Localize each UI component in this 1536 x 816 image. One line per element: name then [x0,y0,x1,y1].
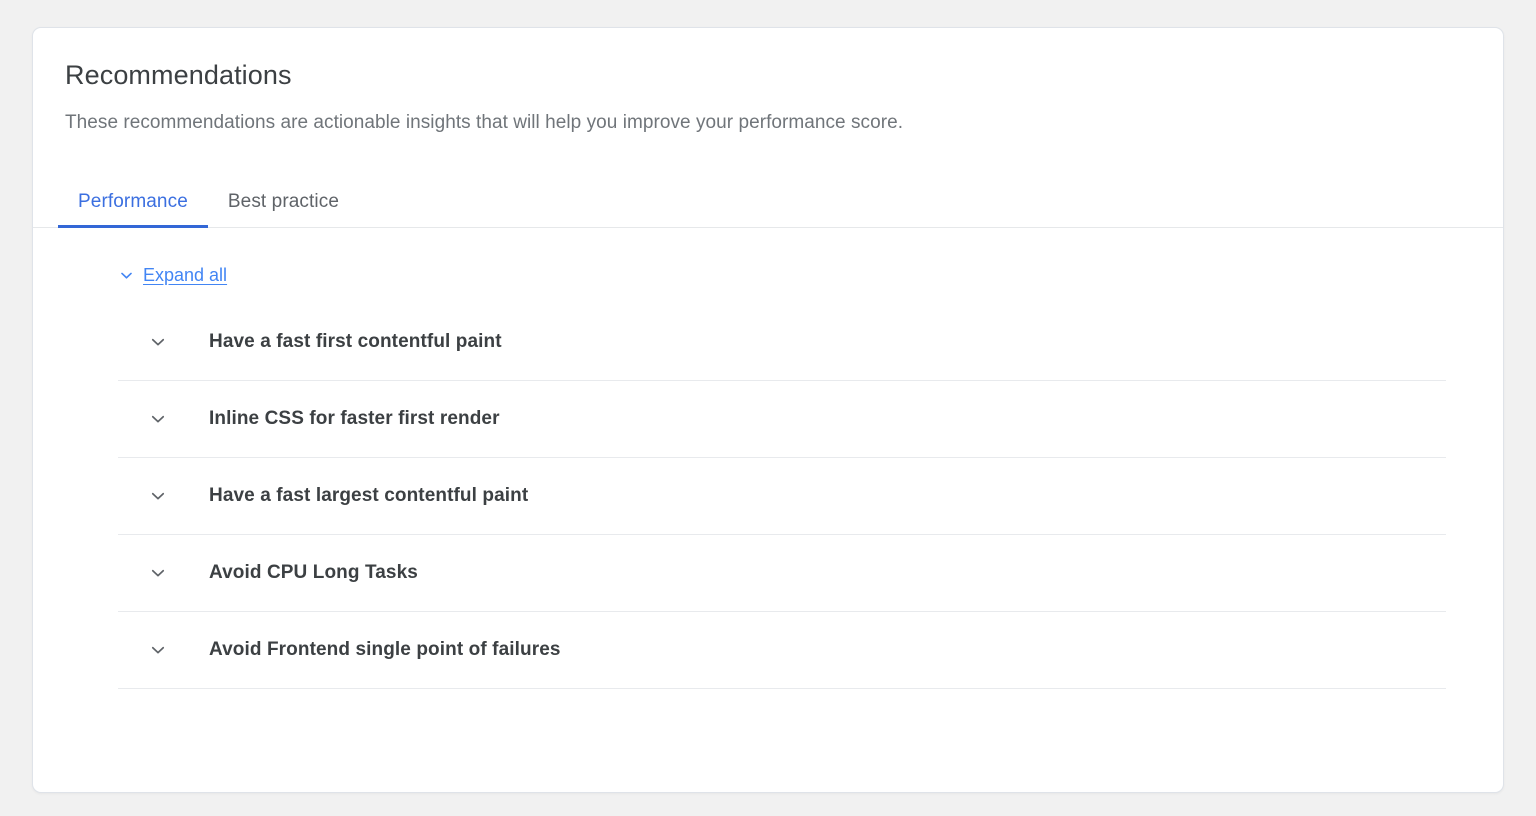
chevron-down-icon[interactable] [149,641,167,659]
recommendation-label: Inline CSS for faster first render [209,407,500,431]
recommendation-label: Avoid CPU Long Tasks [209,561,418,585]
recommendation-label: Have a fast first contentful paint [209,330,502,354]
recommendation-label: Avoid Frontend single point of failures [209,638,561,662]
card-header: Recommendations These recommendations ar… [33,28,1503,136]
recommendation-row-1[interactable]: Have a fast first contentful paint [118,304,1446,381]
recommendation-label: Have a fast largest contentful paint [209,484,528,508]
expand-all-row[interactable]: Expand all [33,228,1503,286]
recommendation-row-2[interactable]: Inline CSS for faster first render [118,381,1446,458]
recommendation-row-5[interactable]: Avoid Frontend single point of failures [118,612,1446,689]
recommendation-row-4[interactable]: Avoid CPU Long Tasks [118,535,1446,612]
recommendation-list: Have a fast first contentful paint Inlin… [33,304,1503,689]
chevron-down-icon[interactable] [119,268,134,283]
chevron-down-icon[interactable] [149,564,167,582]
expand-all-link[interactable]: Expand all [143,264,227,286]
chevron-down-icon[interactable] [149,487,167,505]
card-body: Expand all Have a fast first contentful … [33,228,1503,689]
tab-bar: Performance Best practice [33,172,1503,228]
chevron-down-icon[interactable] [149,333,167,351]
chevron-down-icon[interactable] [149,410,167,428]
card-subtitle: These recommendations are actionable ins… [65,110,1471,136]
recommendations-card: Recommendations These recommendations ar… [32,27,1504,793]
tab-performance[interactable]: Performance [58,190,208,228]
page-root: Recommendations These recommendations ar… [0,0,1536,816]
page-title: Recommendations [65,58,1471,92]
recommendation-row-3[interactable]: Have a fast largest contentful paint [118,458,1446,535]
tab-best-practice[interactable]: Best practice [208,190,359,228]
